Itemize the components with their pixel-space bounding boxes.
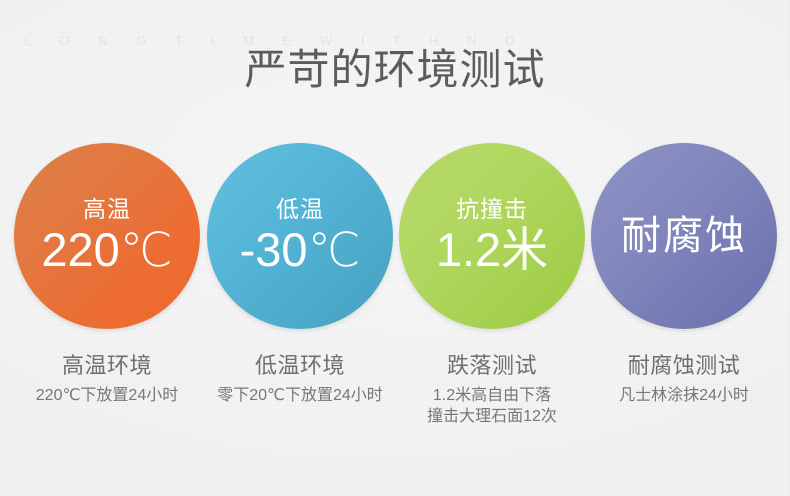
- badge-value: 1.2米: [436, 224, 548, 276]
- test-badge-corrosion-resistance: 耐腐蚀: [591, 143, 777, 329]
- test-badge-impact-resistance: 抗撞击 1.2米: [399, 143, 585, 329]
- badge-label: 低温: [276, 196, 324, 222]
- caption-title: 高温环境: [0, 352, 217, 380]
- badge-label: 抗撞击: [456, 196, 528, 222]
- badge-label: 耐腐蚀: [621, 213, 747, 259]
- page-title: 严苛的环境测试: [0, 44, 790, 96]
- caption-line-1: 220℃下放置24小时: [0, 385, 217, 406]
- badge-circle: 高温 220℃: [14, 143, 200, 329]
- caption-line-1: 1.2米高自由下落: [382, 385, 602, 406]
- badge-circle: 抗撞击 1.2米: [399, 143, 585, 329]
- caption-line-1: 零下20℃下放置24小时: [190, 385, 410, 406]
- test-badge-low-temperature: 低温 -30℃: [207, 143, 393, 329]
- page-background: L O N G T I M E W I T H N O 严苛的环境测试 高温 2…: [0, 0, 790, 496]
- caption-line-2: 撞击大理石面12次: [382, 406, 602, 427]
- caption-drop-test: 跌落测试 1.2米高自由下落 撞击大理石面12次: [382, 352, 602, 427]
- caption-low-temperature: 低温环境 零下20℃下放置24小时: [190, 352, 410, 406]
- badge-value: 220℃: [41, 224, 172, 276]
- badge-label: 高温: [83, 196, 131, 222]
- test-badges-row: 高温 220℃ 低温 -30℃ 抗撞击 1.2米 耐腐蚀: [0, 143, 790, 329]
- caption-title: 跌落测试: [382, 352, 602, 380]
- caption-line-1: 凡士林涂抹24小时: [574, 385, 790, 406]
- badge-value: -30℃: [240, 224, 361, 276]
- test-badge-high-temperature: 高温 220℃: [14, 143, 200, 329]
- badge-circle: 低温 -30℃: [207, 143, 393, 329]
- caption-title: 耐腐蚀测试: [574, 352, 790, 380]
- badge-circle: 耐腐蚀: [591, 143, 777, 329]
- caption-high-temperature: 高温环境 220℃下放置24小时: [0, 352, 217, 406]
- caption-corrosion-test: 耐腐蚀测试 凡士林涂抹24小时: [574, 352, 790, 406]
- caption-title: 低温环境: [190, 352, 410, 380]
